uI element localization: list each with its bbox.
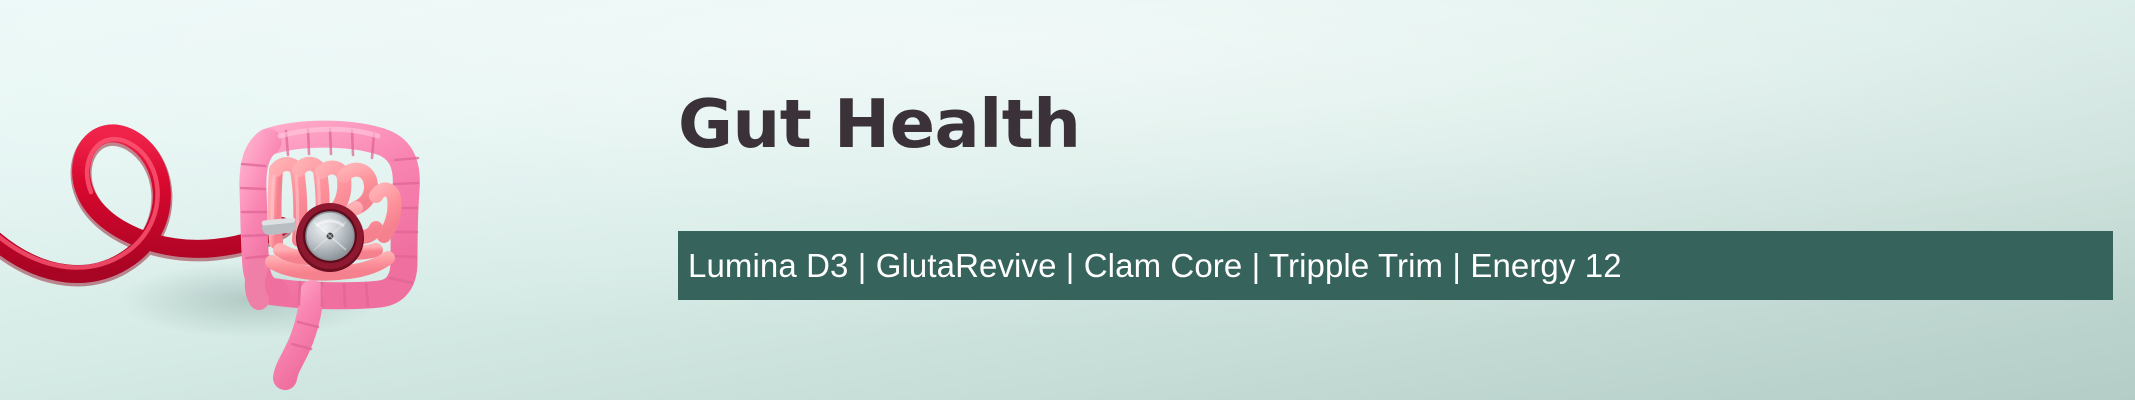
page-title: Gut Health xyxy=(678,88,1080,160)
gut-illustration xyxy=(0,0,470,400)
stethoscope-tube-icon xyxy=(0,133,282,276)
product-list-bar: Lumina D3 | GlutaRevive | Clam Core | Tr… xyxy=(678,231,2113,300)
banner-content: Gut Health Lumina D3 | GlutaRevive | Cla… xyxy=(678,0,2118,400)
gut-health-banner: Gut Health Lumina D3 | GlutaRevive | Cla… xyxy=(0,0,2135,400)
product-list-text: Lumina D3 | GlutaRevive | Clam Core | Tr… xyxy=(688,247,1622,285)
